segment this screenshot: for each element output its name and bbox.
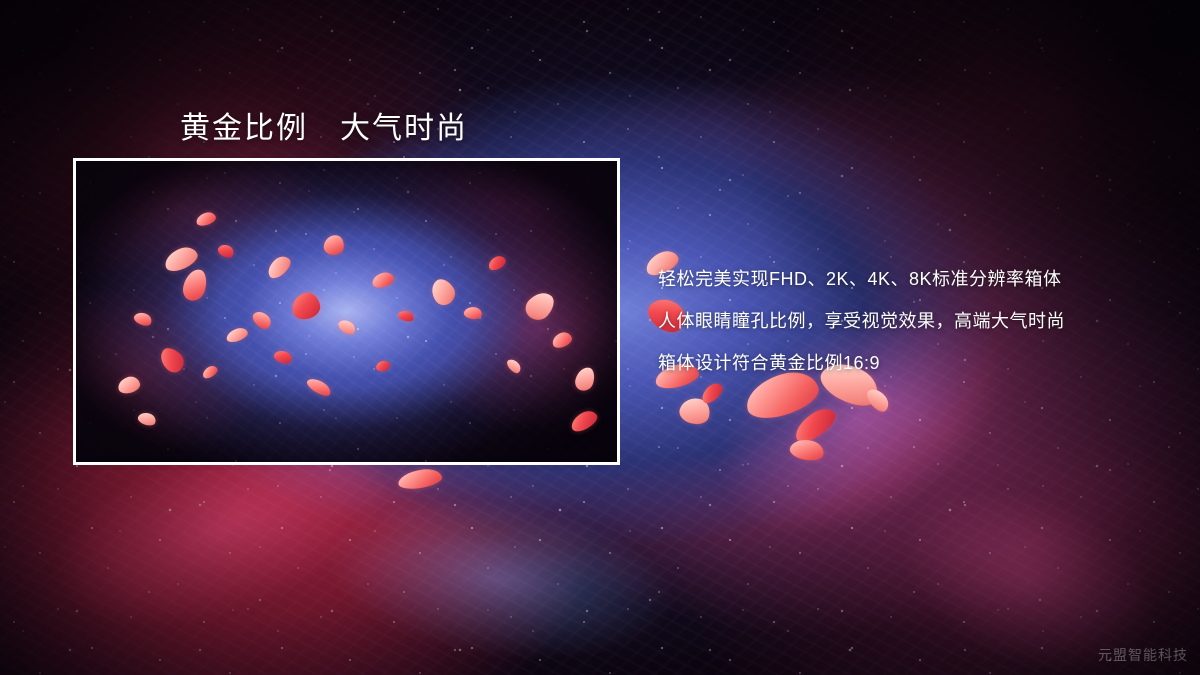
rose-petal	[677, 394, 714, 428]
preview-starfield-small	[76, 161, 617, 462]
body-copy-line-2: 人体眼睛瞳孔比例，享受视觉效果，高端大气时尚	[658, 300, 1158, 342]
rose-petal	[463, 306, 483, 321]
rose-petal	[864, 385, 893, 415]
body-copy: 轻松完美实现FHD、2K、4K、8K标准分辨率箱体 人体眼睛瞳孔比例，享受视觉效…	[658, 258, 1158, 384]
preview-starfield-medium	[76, 161, 617, 462]
rose-petal	[505, 357, 523, 376]
rose-petal	[216, 242, 236, 260]
rose-petal	[132, 310, 153, 328]
rose-petal	[250, 308, 274, 332]
rose-petal	[573, 365, 597, 393]
rose-petal	[195, 210, 218, 227]
rose-petal	[371, 271, 396, 290]
rose-petal	[521, 287, 559, 325]
rose-petal	[336, 317, 358, 337]
preview-frame[interactable]	[73, 158, 620, 465]
rose-petal	[305, 375, 333, 399]
preview-nebula-core	[76, 161, 617, 462]
preview-filaments	[76, 161, 617, 462]
rose-petal	[136, 410, 157, 427]
presentation-slide: 黄金比例 大气时尚 轻松完美实现FHD、2K、4K、8K标准分辨率箱体 人体眼睛…	[0, 0, 1200, 675]
body-copy-line-1: 轻松完美实现FHD、2K、4K、8K标准分辨率箱体	[658, 258, 1158, 300]
rose-petal	[790, 403, 840, 447]
rose-petal	[788, 437, 825, 464]
rose-petal	[161, 243, 200, 274]
watermark: 元盟智能科技	[1098, 645, 1188, 665]
page-title: 黄金比例 大气时尚	[180, 103, 468, 147]
preview-vignette	[76, 161, 617, 462]
rose-petal	[486, 254, 507, 273]
rose-petal	[201, 364, 220, 381]
rose-petal	[397, 309, 415, 323]
rose-petal	[290, 291, 322, 321]
rose-petal	[427, 275, 460, 309]
rose-petal	[375, 360, 390, 372]
rose-petal	[568, 407, 600, 434]
rose-petal	[225, 326, 250, 344]
body-copy-line-3: 箱体设计符合黄金比例16:9	[658, 342, 1158, 384]
rose-petal	[156, 344, 189, 376]
rose-petal	[397, 467, 443, 491]
rose-petal	[117, 375, 142, 395]
nebula-wisp-magenta-right	[572, 161, 1148, 675]
rose-petal	[550, 330, 574, 350]
rose-petal	[180, 267, 209, 303]
rose-petal	[272, 348, 293, 366]
rose-petal	[264, 253, 294, 282]
rose-petal	[323, 234, 346, 257]
nebula-wisp-magenta-corner	[783, 372, 1200, 675]
